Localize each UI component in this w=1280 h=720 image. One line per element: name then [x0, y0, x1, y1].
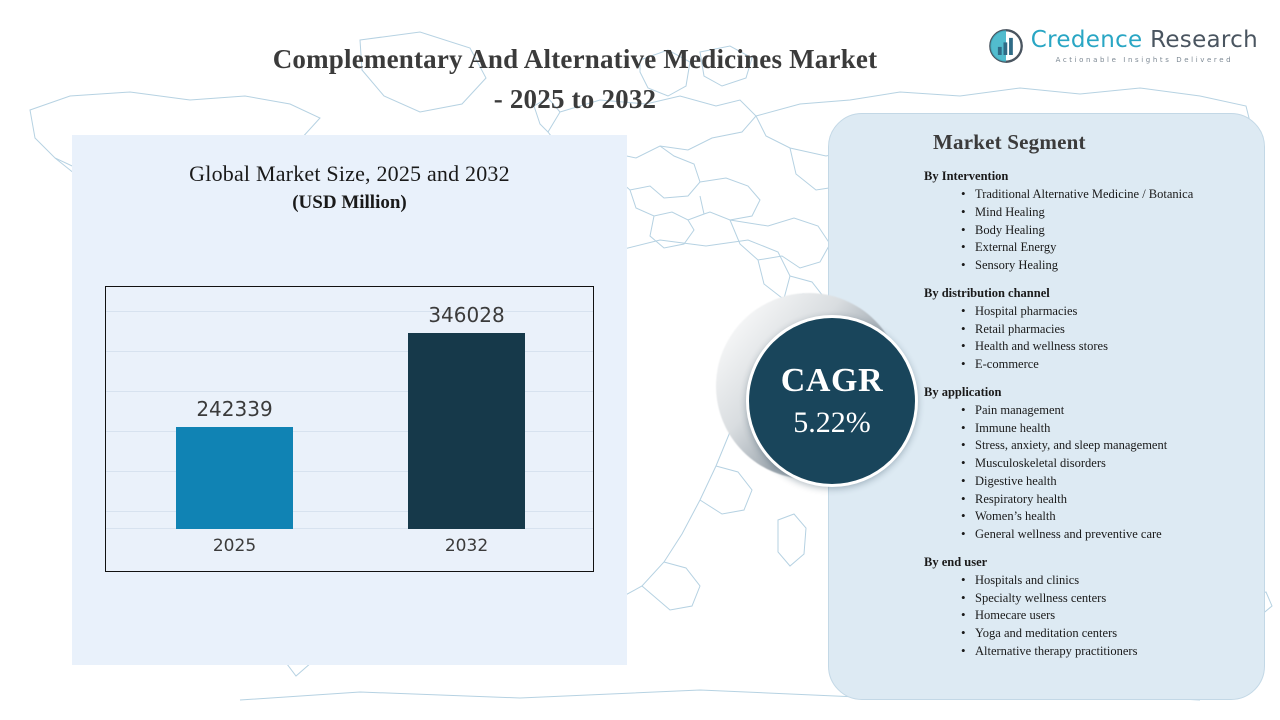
- list-item: General wellness and preventive care: [961, 526, 1246, 544]
- list-item: Hospitals and clinics: [961, 572, 1246, 590]
- segment-group-intervention: By Intervention Traditional Alternative …: [925, 169, 1246, 275]
- list-item: Yoga and meditation centers: [961, 625, 1246, 643]
- list-item: Sensory Healing: [961, 257, 1246, 275]
- segment-heading: By distribution channel: [924, 286, 1246, 301]
- cagr-circle: CAGR 5.22%: [746, 315, 918, 487]
- segment-item-list: Hospital pharmacies Retail pharmacies He…: [925, 303, 1246, 374]
- chart-plot-area: 242339 2025 346028 2032: [105, 286, 594, 572]
- list-item: Hospital pharmacies: [961, 303, 1246, 321]
- list-item: Homecare users: [961, 607, 1246, 625]
- bar-value-2025: 242339: [196, 397, 272, 421]
- cagr-badge: CAGR 5.22%: [716, 293, 924, 501]
- cagr-label: CAGR: [781, 364, 884, 398]
- list-item: Musculoskeletal disorders: [961, 455, 1246, 473]
- bar-category-2025: 2025: [213, 536, 256, 556]
- bar-2032[interactable]: 346028 2032: [408, 333, 525, 529]
- segment-heading: By end user: [924, 555, 1246, 570]
- page-title-line-2: - 2025 to 2032: [180, 80, 970, 120]
- segment-group-distribution-channel: By distribution channel Hospital pharmac…: [925, 286, 1246, 374]
- market-segment-title: Market Segment: [933, 130, 1246, 155]
- list-item: Respiratory health: [961, 491, 1246, 509]
- segment-item-list: Pain management Immune health Stress, an…: [925, 402, 1246, 544]
- segment-heading: By application: [924, 385, 1246, 400]
- page-title-line-1: Complementary And Alternative Medicines …: [180, 40, 970, 80]
- list-item: Immune health: [961, 420, 1246, 438]
- segment-heading: By Intervention: [924, 169, 1246, 184]
- list-item: Stress, anxiety, and sleep management: [961, 437, 1246, 455]
- cagr-value: 5.22%: [793, 408, 871, 438]
- chart-subtitle: (USD Million): [72, 192, 627, 214]
- segment-item-list: Hospitals and clinics Specialty wellness…: [925, 572, 1246, 661]
- list-item: Digestive health: [961, 473, 1246, 491]
- bar-2025[interactable]: 242339 2025: [176, 427, 293, 529]
- list-item: E-commerce: [961, 356, 1246, 374]
- brand-name-part-1: Credence: [1031, 27, 1143, 53]
- list-item: Women’s health: [961, 508, 1246, 526]
- brand-tagline: Actionable Insights Delivered: [1031, 56, 1258, 64]
- market-size-chart: Global Market Size, 2025 and 2032 (USD M…: [72, 160, 627, 580]
- list-item: Alternative therapy practitioners: [961, 643, 1246, 661]
- brand-logo[interactable]: Credence Research Actionable Insights De…: [988, 28, 1258, 64]
- brand-name-part-2: Research: [1150, 27, 1258, 53]
- bar-category-2032: 2032: [445, 536, 488, 556]
- segment-group-application: By application Pain management Immune he…: [925, 385, 1246, 544]
- list-item: Health and wellness stores: [961, 338, 1246, 356]
- list-item: Body Healing: [961, 222, 1246, 240]
- list-item: Specialty wellness centers: [961, 590, 1246, 608]
- segment-group-end-user: By end user Hospitals and clinics Specia…: [925, 555, 1246, 661]
- list-item: Pain management: [961, 402, 1246, 420]
- gridline: [106, 311, 593, 312]
- bar-value-2032: 346028: [428, 303, 504, 327]
- segment-item-list: Traditional Alternative Medicine / Botan…: [925, 186, 1246, 275]
- bar-rect-2032: [408, 333, 525, 529]
- bar-chart-circle-icon: [988, 28, 1024, 64]
- bar-rect-2025: [176, 427, 293, 529]
- page-title: Complementary And Alternative Medicines …: [180, 40, 970, 119]
- list-item: Traditional Alternative Medicine / Botan…: [961, 186, 1246, 204]
- brand-logo-text: Credence Research Actionable Insights De…: [1031, 29, 1258, 64]
- list-item: Retail pharmacies: [961, 321, 1246, 339]
- brand-name: Credence Research: [1031, 29, 1258, 52]
- list-item: Mind Healing: [961, 204, 1246, 222]
- list-item: External Energy: [961, 239, 1246, 257]
- chart-title: Global Market Size, 2025 and 2032: [72, 160, 627, 188]
